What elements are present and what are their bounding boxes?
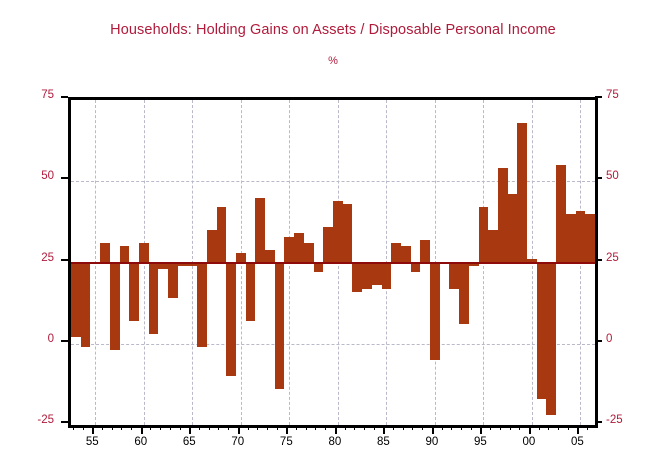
bar xyxy=(362,263,372,289)
x-axis-label: 95 xyxy=(460,436,500,448)
bar xyxy=(168,263,178,299)
bar xyxy=(129,263,139,322)
chart-title: Households: Holding Gains on Assets / Di… xyxy=(0,22,666,38)
bar xyxy=(323,227,333,263)
bar xyxy=(537,263,547,400)
bar xyxy=(420,240,430,263)
bar xyxy=(372,263,382,286)
y-tick-left xyxy=(61,340,68,342)
bar xyxy=(488,230,498,263)
x-axis-label: 90 xyxy=(412,436,452,448)
bar xyxy=(120,246,130,262)
bar xyxy=(149,263,159,335)
bar xyxy=(304,243,314,263)
bar xyxy=(391,243,401,263)
bar xyxy=(246,263,256,322)
plot-area xyxy=(68,97,598,428)
y-axis-label-right: 75 xyxy=(606,89,654,101)
bar xyxy=(275,263,285,390)
bar xyxy=(294,233,304,262)
bar xyxy=(382,263,392,289)
bar xyxy=(207,230,217,263)
gridline-horizontal xyxy=(71,344,595,345)
y-axis-label-right: 25 xyxy=(606,252,654,264)
bar xyxy=(576,211,586,263)
bar xyxy=(217,207,227,262)
bar xyxy=(566,214,576,263)
bar xyxy=(81,263,91,348)
bar xyxy=(226,263,236,377)
bar xyxy=(100,243,110,263)
bar xyxy=(459,263,469,325)
bar xyxy=(139,243,149,263)
bar xyxy=(430,263,440,361)
chart-subtitle: % xyxy=(0,55,666,67)
x-axis-label: 55 xyxy=(72,436,112,448)
y-tick-left xyxy=(61,421,68,423)
x-axis-label: 75 xyxy=(266,436,306,448)
bar xyxy=(314,263,324,273)
bar xyxy=(284,237,294,263)
x-axis-label: 85 xyxy=(363,436,403,448)
bar xyxy=(517,123,527,263)
bar xyxy=(585,214,595,263)
bar xyxy=(71,263,81,338)
y-axis-label-left: 0 xyxy=(6,333,54,345)
bar xyxy=(508,194,518,262)
x-axis-label: 60 xyxy=(121,436,161,448)
x-axis-label: 00 xyxy=(509,436,549,448)
bar xyxy=(255,198,265,263)
y-axis-label-right: 0 xyxy=(606,333,654,345)
plot-inner xyxy=(71,100,595,425)
y-tick-left xyxy=(61,96,68,98)
y-tick-left xyxy=(61,177,68,179)
x-axis-label: 05 xyxy=(557,436,597,448)
x-axis-label: 65 xyxy=(169,436,209,448)
bar xyxy=(498,168,508,262)
bar xyxy=(449,263,459,289)
bar xyxy=(110,263,120,351)
y-axis-label-right: -25 xyxy=(606,414,654,426)
x-axis-label: 70 xyxy=(218,436,258,448)
y-axis-label-left: 25 xyxy=(6,252,54,264)
x-axis-label: 80 xyxy=(315,436,355,448)
y-axis-label-right: 50 xyxy=(606,170,654,182)
reference-line xyxy=(71,262,595,264)
bar xyxy=(556,165,566,263)
chart-container: Households: Holding Gains on Assets / Di… xyxy=(0,0,666,471)
y-axis-label-left: 50 xyxy=(6,170,54,182)
y-axis-label-left: -25 xyxy=(6,414,54,426)
bar xyxy=(401,246,411,262)
bar xyxy=(343,204,353,263)
bar xyxy=(546,263,556,416)
y-tick-left xyxy=(61,259,68,261)
bar xyxy=(352,263,362,292)
bar xyxy=(333,201,343,263)
bar xyxy=(479,207,489,262)
bar xyxy=(411,263,421,273)
bar xyxy=(197,263,207,348)
y-axis-label-left: 75 xyxy=(6,89,54,101)
